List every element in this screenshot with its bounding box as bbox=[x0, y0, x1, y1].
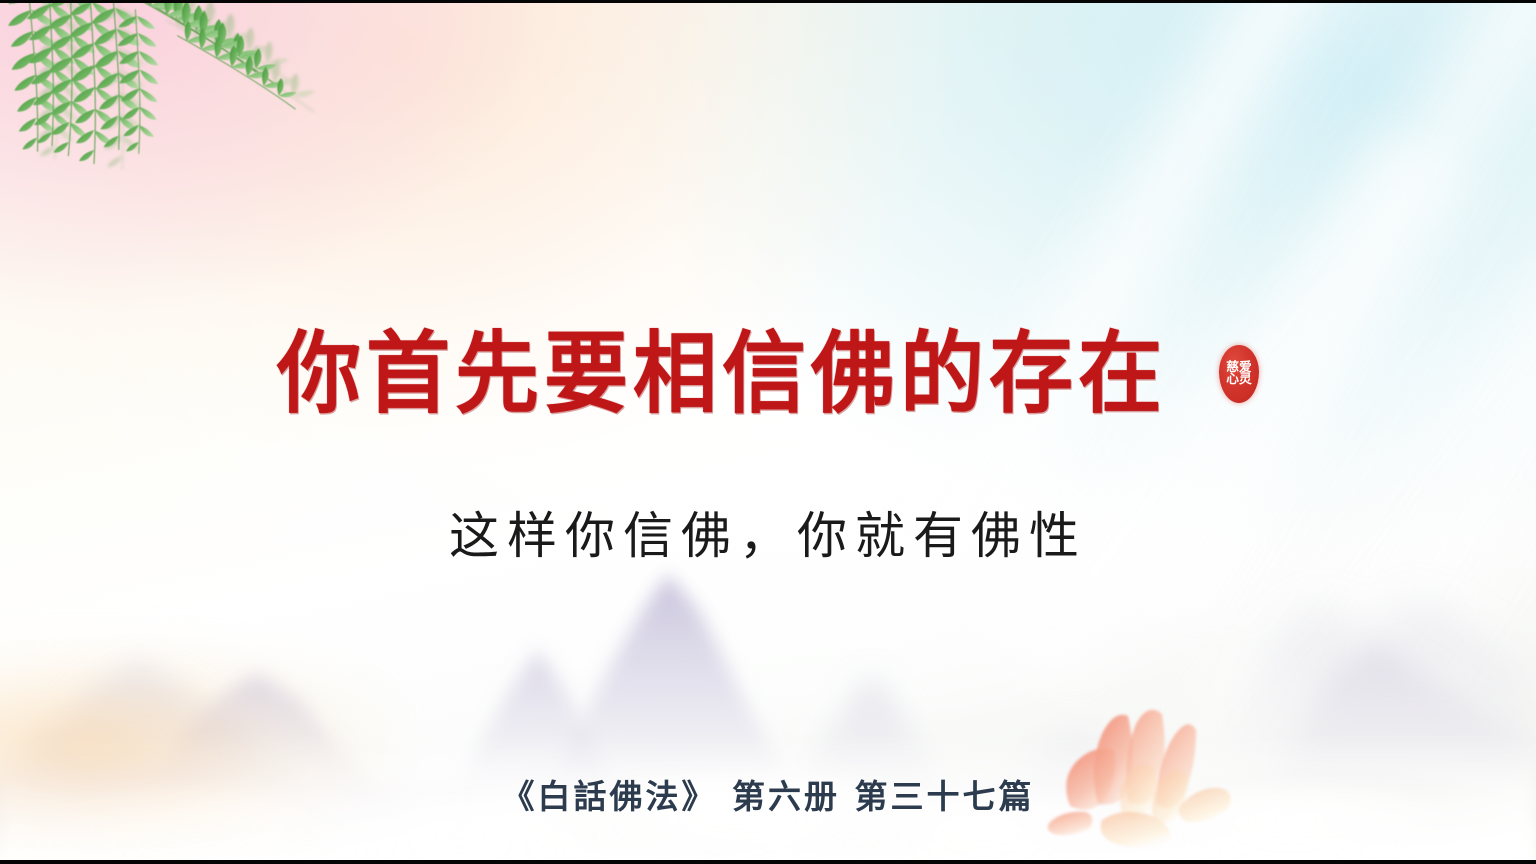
background-gradient bbox=[0, 0, 1536, 864]
title-row: 你首先要相信佛的存在 慈爱心灵 bbox=[0, 332, 1536, 416]
subtitle: 这样你信佛，你就有佛性 bbox=[0, 506, 1536, 566]
slide-canvas: 你首先要相信佛的存在 慈爱心灵 这样你信佛，你就有佛性 《白話佛法》 第六册 第… bbox=[0, 0, 1536, 864]
seal-stamp-text: 慈爱心灵 bbox=[1225, 362, 1252, 386]
source-citation: 《白話佛法》 第六册 第三十七篇 bbox=[0, 777, 1536, 817]
seal-stamp-icon: 慈爱心灵 bbox=[1219, 345, 1259, 403]
page-title: 你首先要相信佛的存在 bbox=[277, 329, 1167, 418]
